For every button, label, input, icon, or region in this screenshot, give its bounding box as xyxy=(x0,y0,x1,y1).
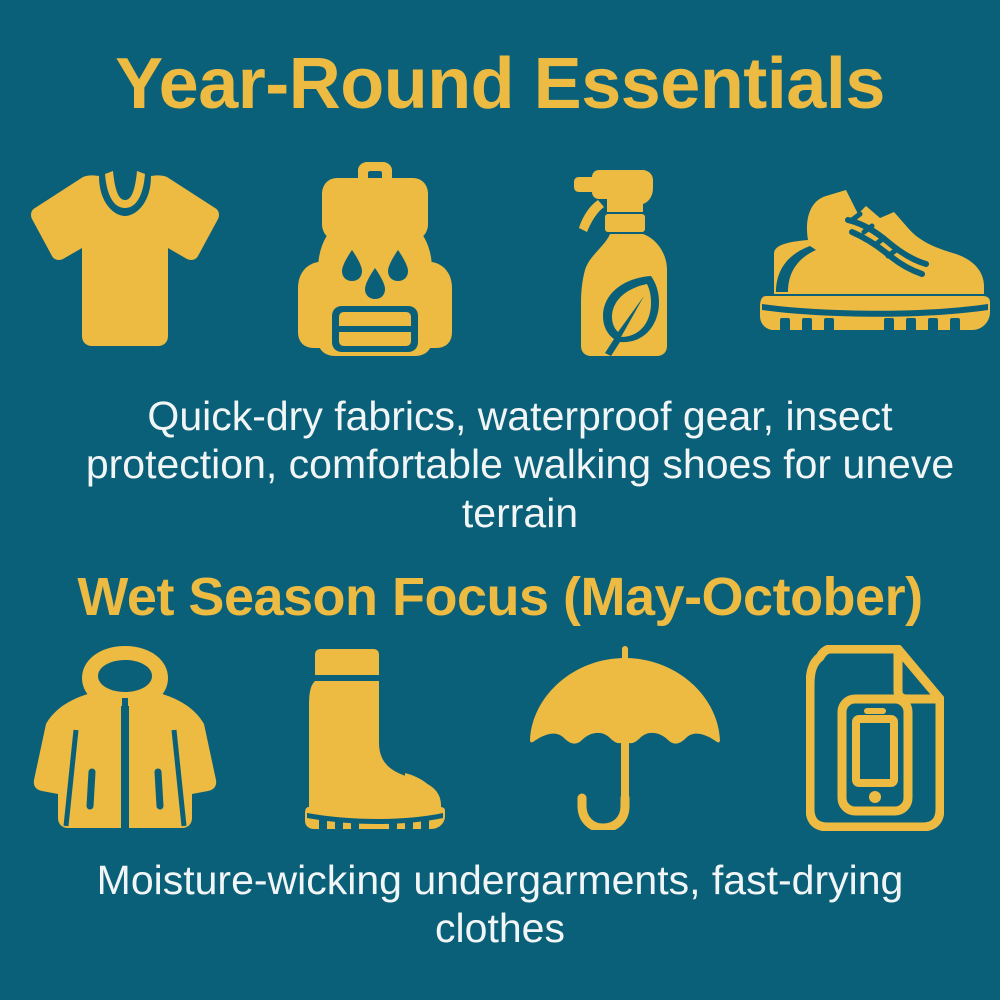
caption-essentials-line-3: terrain xyxy=(16,489,1000,537)
caption-wet-season: Moisture-wicking undergarments, fast-dry… xyxy=(40,856,960,953)
icon-cell-phone-pouch xyxy=(750,638,1000,838)
icon-row-wet-season xyxy=(0,638,1000,838)
caption-wet-season-line-2: clothes xyxy=(435,905,565,951)
icon-cell-hiking-boot xyxy=(750,160,1000,360)
rain-jacket-icon xyxy=(32,646,218,830)
umbrella-icon xyxy=(528,646,722,830)
tshirt-icon xyxy=(27,170,223,350)
icon-cell-tshirt xyxy=(0,160,250,360)
section-title-wet-season: Wet Season Focus (May-October) xyxy=(0,570,1000,624)
rain-boot-icon xyxy=(305,647,445,829)
caption-wet-season-line-1: Moisture-wicking undergarments, fast-dry… xyxy=(97,857,904,903)
waterproof-phone-pouch-icon xyxy=(806,645,944,831)
icon-row-essentials xyxy=(0,160,1000,360)
icon-cell-backpack xyxy=(250,160,500,360)
caption-essentials: Quick-dry fabrics, waterproof gear, inse… xyxy=(40,392,1000,537)
hiking-boot-icon xyxy=(760,184,990,336)
waterproof-backpack-icon xyxy=(292,162,458,358)
page-title: Year-Round Essentials xyxy=(0,48,1000,120)
icon-cell-spray-bottle xyxy=(500,160,750,360)
caption-essentials-line-1: Quick-dry fabrics, waterproof gear, inse… xyxy=(16,392,1000,440)
icon-cell-rain-jacket xyxy=(0,638,250,838)
icon-cell-umbrella xyxy=(500,638,750,838)
insect-spray-bottle-icon xyxy=(565,160,685,360)
caption-essentials-line-2: protection, comfortable walking shoes fo… xyxy=(16,440,1000,488)
icon-cell-rain-boot xyxy=(250,638,500,838)
infographic-canvas: Year-Round Essentials xyxy=(0,0,1000,1000)
